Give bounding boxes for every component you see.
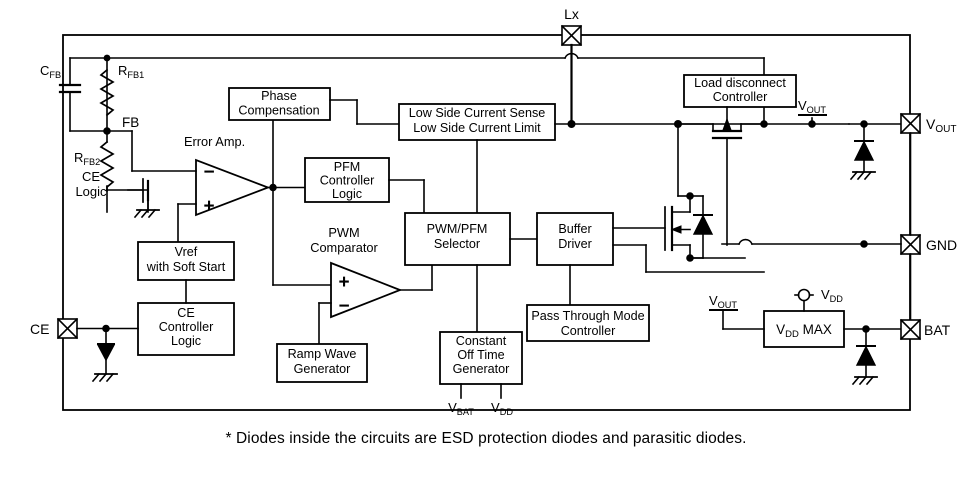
pin-bat[interactable] [901, 320, 920, 339]
error-amp-minus-sign: − [203, 162, 214, 183]
block-label-cot-l2: Off Time [457, 348, 504, 362]
error-amp-plus-sign: + [203, 196, 214, 217]
amp-label-pwm-comp-l1: PWM [328, 225, 359, 240]
junction-dot-vout-tap [760, 120, 768, 128]
block-label-ramp-l1: Ramp Wave [288, 347, 357, 361]
block-label-cot-l1: Constant [456, 334, 507, 348]
block-label-load-disconnect-l2: Controller [713, 90, 768, 104]
pin-label-lx: Lx [564, 6, 579, 22]
block-label-pfm-l1: PFM [334, 160, 361, 174]
pin-label-vout: VOUT [926, 116, 956, 135]
block-label-selector-l2: Selector [434, 237, 480, 251]
junction-dot-voutlbl [808, 120, 816, 128]
block-label-passthrough-l2: Controller [561, 324, 616, 338]
block-label-buffer-l1: Buffer [558, 222, 591, 236]
pin-gnd[interactable] [901, 235, 920, 254]
pwm-comp-plus-sign: + [338, 272, 349, 293]
pwm-comp-minus-sign: − [338, 296, 349, 317]
block-label-ramp-l2: Generator [294, 362, 351, 376]
block-label-load-disconnect-l1: Load disconnect [694, 76, 786, 90]
block-diagram-canvas: Phase Compensation Low Side Current Sens… [0, 0, 972, 485]
pin-vout[interactable] [901, 114, 920, 133]
amp-label-error-amp: Error Amp. [184, 134, 245, 149]
pin-label-gnd: GND [926, 237, 957, 253]
net-label-ce-logic-l1: CE [82, 169, 100, 184]
block-label-phase-compensation-l1: Phase [261, 89, 297, 103]
block-label-ce-l1: CE [177, 306, 195, 320]
pin-label-bat: BAT [924, 322, 951, 338]
block-label-buffer-l2: Driver [558, 237, 592, 251]
net-label-fb: FB [122, 115, 139, 130]
block-label-passthrough-l1: Pass Through Mode [531, 309, 644, 323]
pin-ce[interactable] [58, 319, 77, 338]
pin-label-ce: CE [30, 321, 49, 337]
pin-lx[interactable] [562, 26, 581, 45]
block-label-pfm-l3: Logic [332, 187, 362, 201]
footnote-text: * Diodes inside the circuits are ESD pro… [0, 430, 972, 448]
block-label-low-side-l2: Low Side Current Limit [413, 121, 541, 135]
block-label-low-side-l1: Low Side Current Sense [409, 106, 546, 120]
block-label-pfm-l2: Controller [320, 174, 375, 188]
circuit-schematic: Phase Compensation Low Side Current Sens… [0, 0, 972, 430]
block-label-ce-l2: Controller [159, 320, 214, 334]
block-label-selector-l1: PWM/PFM [427, 222, 488, 236]
amp-label-pwm-comp-l2: Comparator [310, 240, 378, 255]
block-label-vref-l1: Vref [175, 245, 198, 259]
vdd-terminal-circle [799, 290, 810, 301]
net-label-ce-logic-l2: Logic [75, 184, 107, 199]
block-label-vref-l2: with Soft Start [146, 260, 226, 274]
block-label-phase-compensation-l2: Compensation [238, 104, 319, 118]
net-label-cfb: CFB [40, 63, 61, 80]
block-label-cot-l3: Generator [453, 362, 510, 376]
block-label-ce-l3: Logic [171, 334, 201, 348]
